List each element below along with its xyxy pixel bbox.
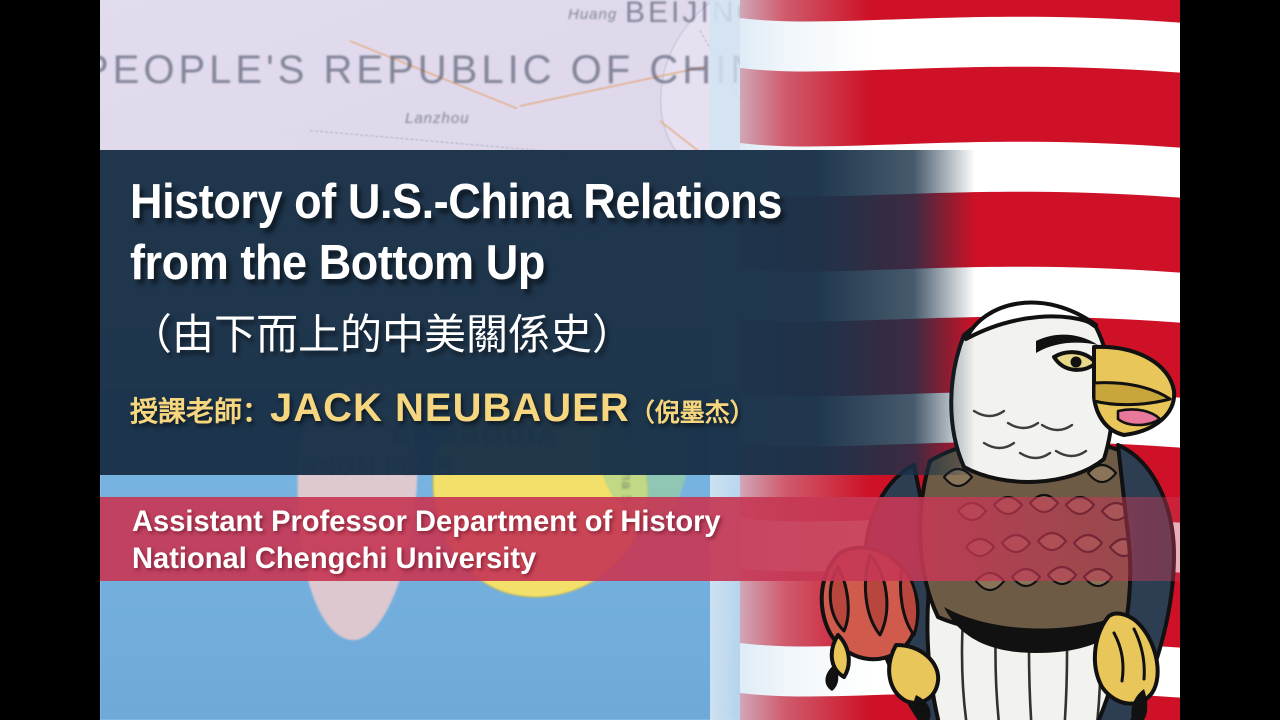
affiliation-line-2: National Chengchi University: [132, 541, 1149, 578]
title-panel: History of U.S.-China Relations from the…: [100, 150, 975, 475]
subtitle-chinese: （由下而上的中美關係史）: [130, 310, 975, 360]
map-label-capital: BEIJING: [625, 0, 763, 30]
instructor-name-en: JACK NEUBAUER: [270, 386, 630, 430]
page-title: History of U.S.-China Relations from the…: [130, 172, 907, 294]
letterbox-right: [1180, 0, 1280, 720]
instructor-label: 授課老師：: [130, 395, 270, 428]
affiliation-line-1: Assistant Professor Department of Histor…: [132, 504, 1149, 541]
letterbox-left: [0, 0, 100, 720]
title-line-2: from the Bottom Up: [130, 236, 545, 290]
map-label-country: PEOPLE'S REPUBLIC OF CHINA: [100, 48, 794, 93]
affiliation-banner: Assistant Professor Department of Histor…: [100, 497, 1180, 581]
map-label-river: Huang: [568, 6, 617, 23]
map-label-city: Lanzhou: [405, 110, 470, 127]
course-title-slide: PEOPLE'S REPUBLIC OF CHINA BEIJING Huang…: [0, 0, 1280, 720]
slide-stage: PEOPLE'S REPUBLIC OF CHINA BEIJING Huang…: [100, 0, 1180, 720]
title-line-1: History of U.S.-China Relations: [130, 175, 782, 229]
instructor-name-cn: （倪墨杰）: [630, 398, 755, 427]
instructor-line: 授課老師：JACK NEUBAUER（倪墨杰）: [130, 386, 975, 431]
